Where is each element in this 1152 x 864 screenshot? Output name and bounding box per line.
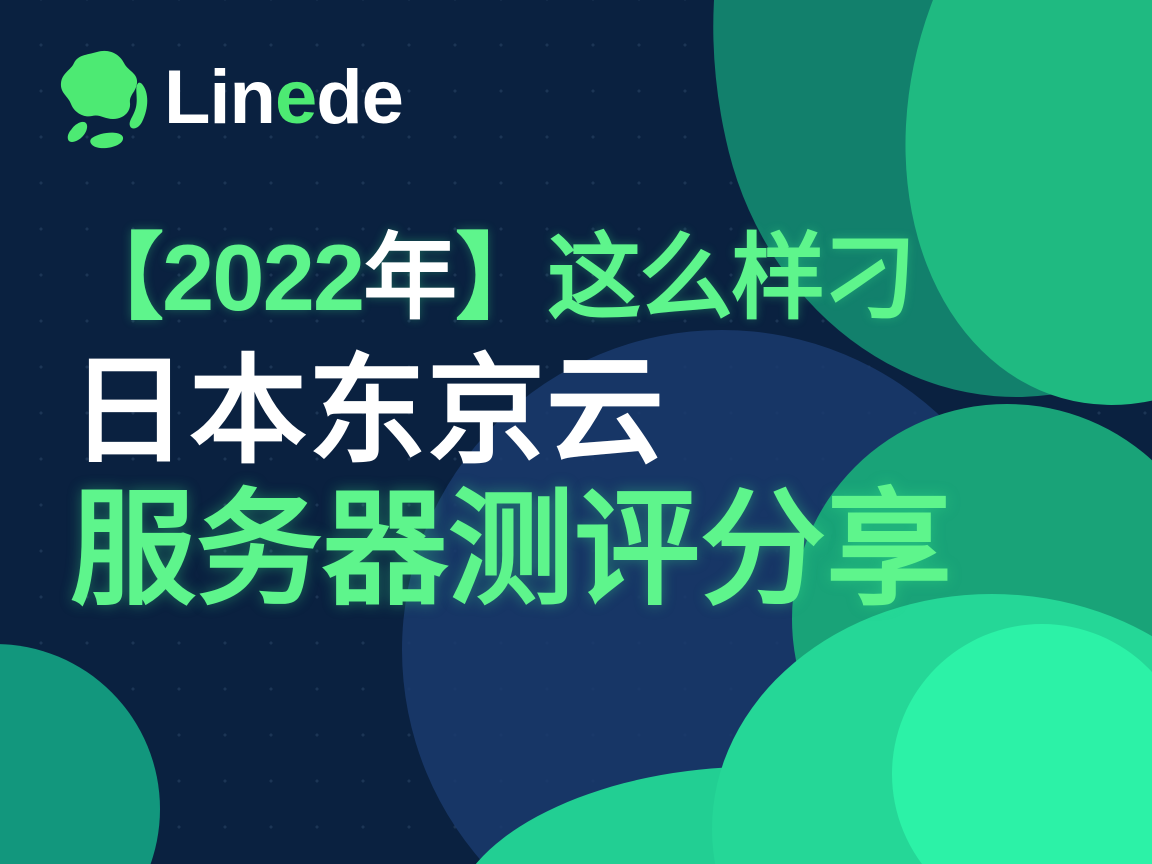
headline-line-1: 【2022年】这么样刁 (70, 228, 1080, 328)
brand-logo: Linede (50, 46, 403, 150)
wordmark-suffix: de (316, 55, 403, 140)
bracket-close: 】 (455, 225, 547, 330)
headline-line-3: 服务器测评分享 (70, 483, 1080, 617)
bracket-open: 【 (70, 225, 162, 330)
banner-content: Linede 【2022年】这么样刁 日本东京云 服务器测评分享 (0, 0, 1152, 864)
linede-blob-logo-icon (50, 46, 154, 150)
promo-banner: Linede 【2022年】这么样刁 日本东京云 服务器测评分享 (0, 0, 1152, 864)
headline-line-2: 日本东京云 (70, 350, 1080, 475)
year-char: 年 (363, 225, 455, 330)
wordmark-accent-letter: e (275, 55, 316, 140)
year-number: 2022 (162, 225, 363, 330)
headline-line-1-tail: 这么样刁 (547, 225, 915, 330)
wordmark-prefix: Lin (164, 55, 275, 140)
headline-block: 【2022年】这么样刁 日本东京云 服务器测评分享 (70, 228, 1080, 616)
brand-wordmark: Linede (164, 60, 403, 136)
